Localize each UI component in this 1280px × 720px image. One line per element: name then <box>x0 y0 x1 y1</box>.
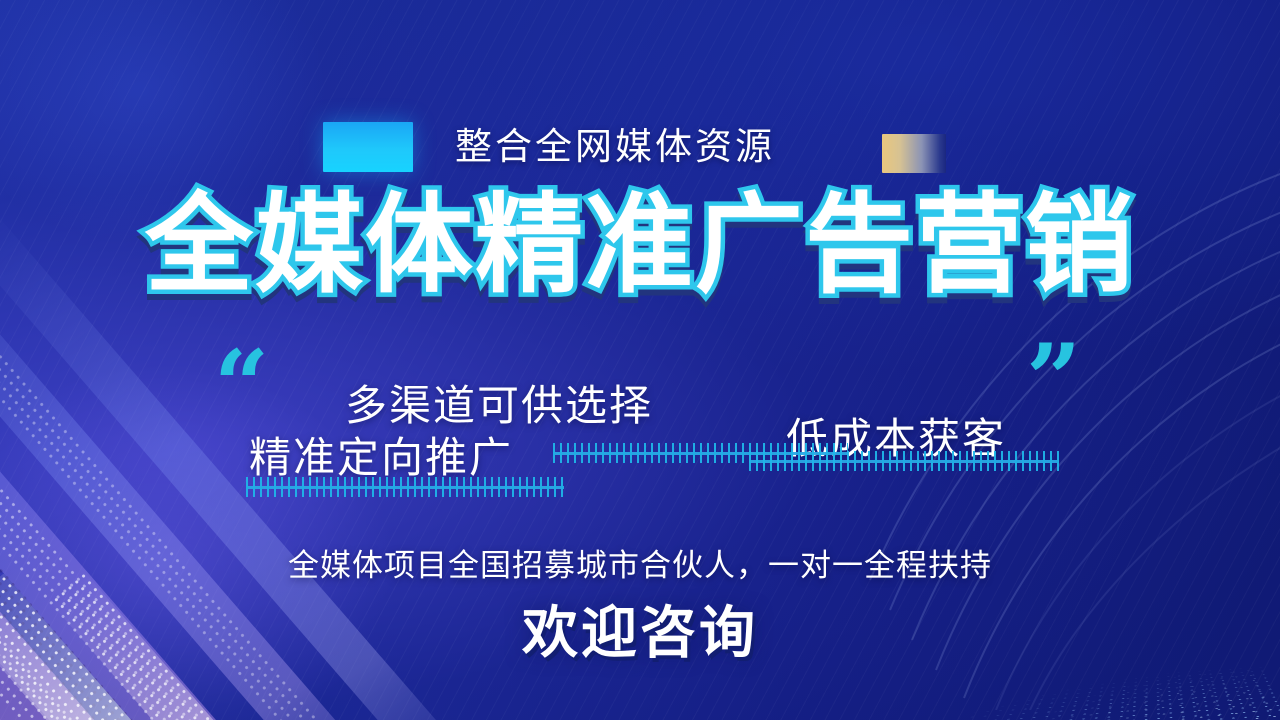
cyan-block-decor <box>323 122 413 172</box>
quote-close-icon: ” <box>1026 332 1081 428</box>
promo-poster: 整合全网媒体资源 全媒体精准广告营销 全媒体精准广告营销 全媒体精准广告营销 “… <box>0 0 1280 720</box>
headline: 全媒体精准广告营销 全媒体精准广告营销 全媒体精准广告营销 <box>0 186 1280 306</box>
gold-block-decor <box>882 134 946 173</box>
sub-line-2: 精准定向推广 <box>249 424 513 485</box>
comb-rule-3 <box>749 451 1059 471</box>
tagline: 全媒体项目全国招募城市合伙人，一对一全程扶持 <box>0 540 1280 585</box>
eyebrow-row: 整合全网媒体资源 <box>0 118 1280 176</box>
headline-fill-layer: 全媒体精准广告营销 <box>0 186 1280 304</box>
poster-content: 整合全网媒体资源 全媒体精准广告营销 全媒体精准广告营销 全媒体精准广告营销 “… <box>0 0 1280 720</box>
comb-rule-2 <box>246 477 564 497</box>
cta-text: 欢迎咨询 <box>0 600 1280 666</box>
eyebrow-text: 整合全网媒体资源 <box>455 118 775 176</box>
quote-open-icon: “ <box>214 338 269 434</box>
